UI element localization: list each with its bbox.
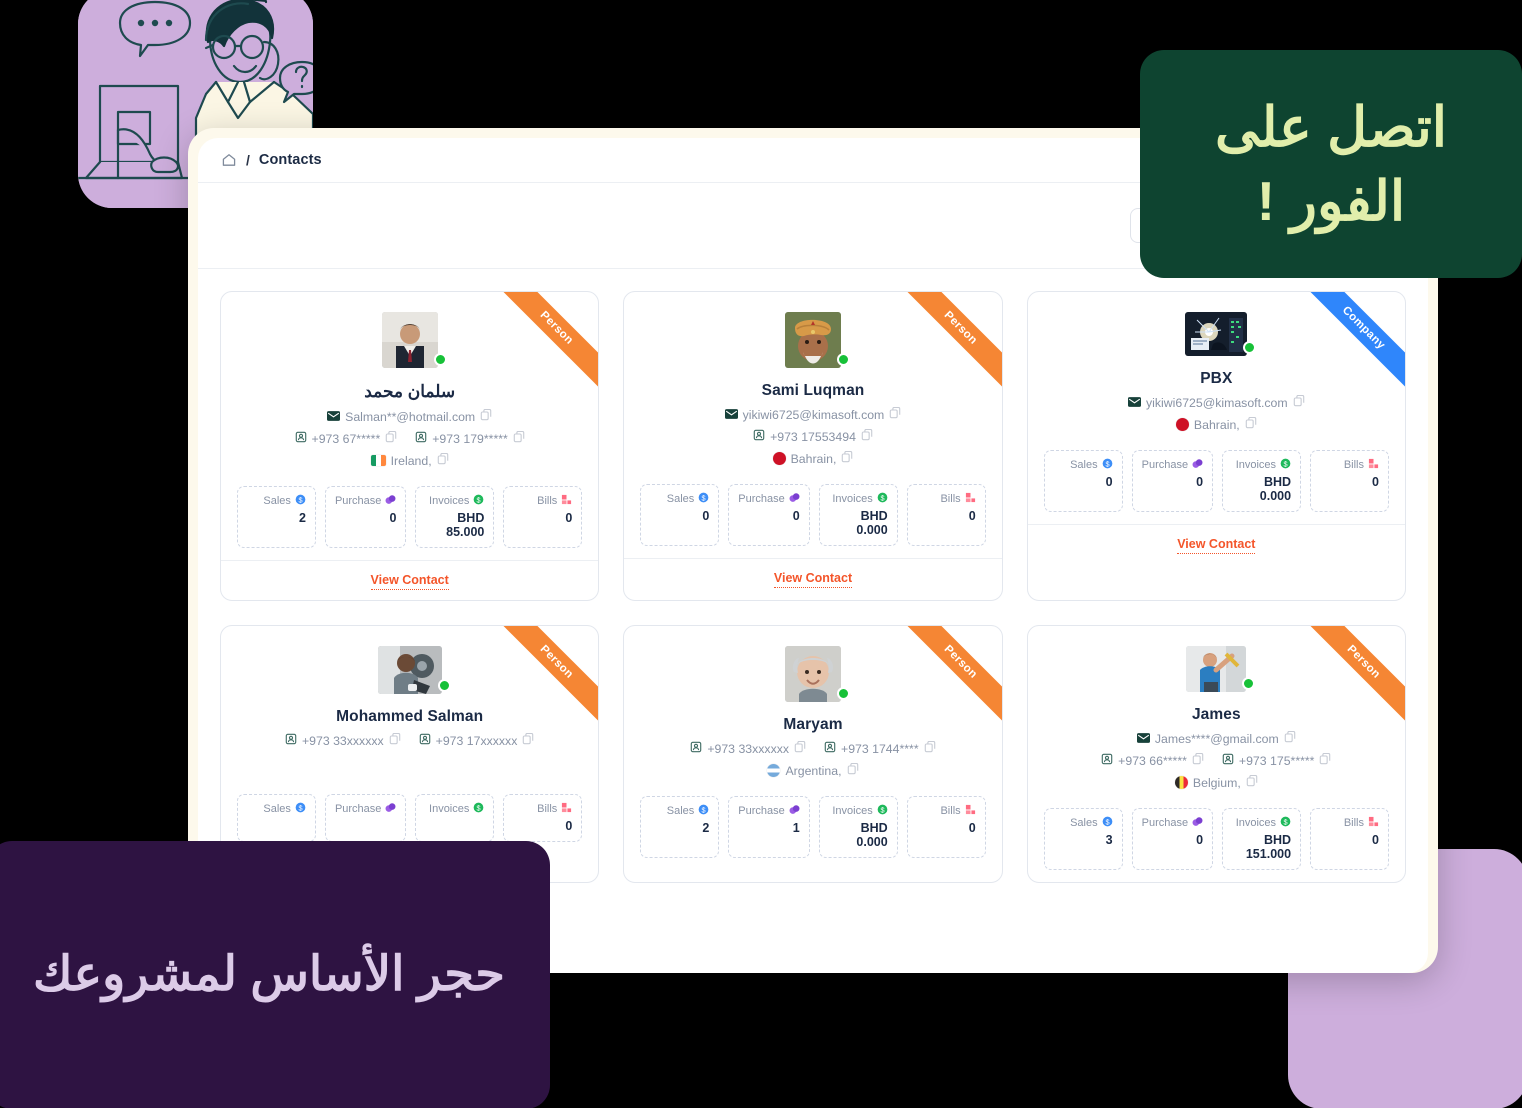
phone-pair[interactable]: +973 66***** — [1101, 753, 1204, 768]
stats-row: Sales $ 2 Purchase 0 — [237, 486, 582, 548]
sales-coin-icon: $ — [295, 802, 306, 816]
svg-text:$: $ — [1105, 459, 1109, 468]
status-dot-online — [1242, 677, 1255, 690]
stat-bills: Bills 0 — [1310, 808, 1389, 870]
phone-text: +973 179***** — [432, 432, 508, 446]
contact-name: Mohammed Salman — [237, 708, 582, 726]
stat-label: Bills — [940, 493, 960, 505]
copy-icon[interactable] — [437, 453, 449, 468]
bills-blocks-icon — [1368, 458, 1379, 472]
avatar-wrapper — [1186, 646, 1246, 692]
copy-icon[interactable] — [522, 733, 534, 748]
stat-label: Bills — [1344, 817, 1364, 829]
contact-card[interactable]: Person — [1027, 625, 1406, 883]
stat-sales: Sales $ 3 — [1044, 808, 1123, 870]
stat-label: Purchase — [335, 495, 381, 507]
country-text: Argentina, — [785, 764, 841, 778]
stat-value: 1 — [738, 821, 799, 835]
contact-email-row: yikiwi6725@kimasoft.com — [1044, 395, 1389, 410]
phone-pair[interactable]: +973 1744**** — [824, 741, 936, 756]
phone-text: +973 66***** — [1118, 754, 1187, 768]
card-footer: View Contact — [624, 558, 1001, 598]
sales-coin-icon: $ — [1102, 458, 1113, 472]
stat-label: Sales — [263, 803, 291, 815]
card-footer: View Contact — [1028, 524, 1405, 564]
copy-icon[interactable] — [1284, 731, 1296, 746]
purchase-coins-icon — [1192, 816, 1203, 830]
view-contact-link[interactable]: View Contact — [774, 571, 852, 588]
phone-text: +973 1744**** — [841, 742, 919, 756]
contact-card[interactable]: Person — [623, 625, 1002, 883]
country-pair[interactable]: Bahrain, — [1176, 417, 1257, 432]
stat-value: 0 — [738, 509, 799, 523]
stat-purchase: Purchase 0 — [1132, 450, 1213, 512]
view-contact-link[interactable]: View Contact — [371, 573, 449, 590]
stat-bills: Bills 0 — [1310, 450, 1389, 512]
stat-label: Bills — [940, 805, 960, 817]
country-text: Bahrain, — [1194, 418, 1240, 432]
email-pair[interactable]: yikiwi6725@kimasoft.com — [725, 407, 902, 422]
svg-text:$: $ — [298, 495, 302, 504]
card-body: James James****@gmail.com — [1028, 626, 1405, 882]
contact-card-icon — [415, 431, 427, 446]
stat-label: Sales — [263, 495, 291, 507]
stat-purchase: Purchase 1 — [728, 796, 809, 858]
stat-header: Invoices $ — [425, 494, 484, 508]
stat-header: Sales $ — [650, 492, 709, 506]
card-body: Mohammed Salman +973 33xxxxxx — [221, 626, 598, 854]
phone-text: +973 67***** — [312, 432, 381, 446]
stat-value: 0 — [917, 509, 976, 523]
stat-label: Sales — [1070, 817, 1098, 829]
svg-text:$: $ — [1105, 817, 1109, 826]
stat-label: Purchase — [738, 493, 784, 505]
stat-header: Invoices $ — [425, 802, 484, 816]
copy-icon[interactable] — [385, 431, 397, 446]
contact-card-icon — [285, 733, 297, 748]
stat-sales: Sales $ 0 — [1044, 450, 1123, 512]
copy-icon[interactable] — [513, 431, 525, 446]
stat-label: Invoices — [832, 805, 872, 817]
country-text: Ireland, — [391, 454, 432, 468]
copy-icon[interactable] — [389, 733, 401, 748]
email-text: yikiwi6725@kimasoft.com — [1146, 396, 1288, 410]
avatar — [785, 312, 841, 368]
stat-sales: Sales $ — [237, 794, 316, 842]
stat-value: 0 — [1142, 833, 1203, 847]
sales-coin-icon: $ — [698, 804, 709, 818]
stat-invoices: Invoices $ — [415, 794, 494, 842]
avatar-wrapper — [1185, 312, 1247, 356]
bills-blocks-icon — [561, 494, 572, 508]
svg-text:$: $ — [880, 493, 884, 502]
copy-icon[interactable] — [794, 741, 806, 756]
stat-header: Sales $ — [1054, 458, 1113, 472]
stat-header: Invoices $ — [1232, 458, 1291, 472]
svg-text:$: $ — [880, 805, 884, 814]
phone-text: +973 175***** — [1239, 754, 1315, 768]
copy-icon[interactable] — [480, 409, 492, 424]
contact-phone-row: +973 66***** +973 175***** — [1044, 753, 1389, 768]
copy-icon[interactable] — [924, 741, 936, 756]
contact-name: سلمان محمد — [237, 382, 582, 402]
stat-header: Purchase — [1142, 816, 1203, 830]
stat-label: Bills — [1344, 459, 1364, 471]
phone-pair[interactable]: +973 33xxxxxx — [690, 741, 806, 756]
purchase-coins-icon — [385, 494, 396, 508]
contact-name: Sami Luqman — [640, 382, 985, 400]
stat-header: Bills — [513, 494, 572, 508]
bills-blocks-icon — [965, 804, 976, 818]
stat-header: Bills — [917, 492, 976, 506]
stats-row: Sales $ 0 Purchase 0 — [640, 484, 985, 546]
stat-label: Invoices — [1236, 459, 1276, 471]
stat-header: Invoices $ — [829, 492, 888, 506]
stat-header: Sales $ — [247, 802, 306, 816]
card-body: PBX yikiwi6725@kimasoft.com — [1028, 292, 1405, 524]
invoices-coin-icon: $ — [473, 494, 484, 508]
contact-name: James — [1044, 706, 1389, 724]
contact-email-row: James****@gmail.com — [1044, 731, 1389, 746]
phone-pair[interactable]: +973 33xxxxxx — [285, 733, 401, 748]
contact-country-row: Bahrain, — [640, 451, 985, 466]
card-body: Maryam +973 33xxxxxx — [624, 626, 1001, 870]
card-footer: View Contact — [221, 560, 598, 600]
card-body: Sami Luqman yikiwi6725@kimasoft.com — [624, 292, 1001, 558]
contact-card-icon — [1101, 753, 1113, 768]
stat-value: 0 — [650, 509, 709, 523]
contact-card-icon — [753, 429, 765, 444]
contact-card[interactable]: Person — [220, 291, 599, 601]
phone-pair[interactable]: +973 17553494 — [753, 429, 873, 444]
status-dot-online — [438, 679, 451, 692]
copy-icon[interactable] — [1246, 775, 1258, 790]
contact-card-icon — [295, 431, 307, 446]
invoices-coin-icon: $ — [473, 802, 484, 816]
avatar — [785, 646, 841, 702]
stat-bills: Bills 0 — [907, 484, 986, 546]
country-pair[interactable]: Argentina, — [767, 763, 858, 778]
email-pair[interactable]: James****@gmail.com — [1137, 731, 1296, 746]
contact-name: PBX — [1044, 370, 1389, 388]
breadcrumb-current: Contacts — [259, 152, 322, 168]
stats-row: Sales $ Purchase — [237, 794, 582, 842]
stat-purchase: Purchase — [325, 794, 406, 842]
flag-icon-ireland — [371, 455, 386, 466]
stat-value: 0 — [513, 819, 572, 833]
contact-card-icon — [824, 741, 836, 756]
stat-header: Bills — [917, 804, 976, 818]
status-dot-online — [434, 353, 447, 366]
contact-phone-row: +973 67***** +973 179***** — [237, 431, 582, 446]
copy-icon[interactable] — [841, 451, 853, 466]
email-pair[interactable]: yikiwi6725@kimasoft.com — [1128, 395, 1305, 410]
stat-sales: Sales $ 0 — [640, 484, 719, 546]
view-contact-link[interactable]: View Contact — [1177, 537, 1255, 554]
invoices-coin-icon: $ — [877, 804, 888, 818]
avatar — [1186, 646, 1246, 692]
invoices-coin-icon: $ — [1280, 458, 1291, 472]
phone-pair[interactable]: +973 17xxxxxx — [419, 733, 535, 748]
country-pair[interactable]: Bahrain, — [773, 451, 854, 466]
phone-pair[interactable]: +973 67***** — [295, 431, 398, 446]
contact-email-row: Salman**@hotmail.com — [237, 409, 582, 424]
stat-header: Sales $ — [247, 494, 306, 508]
stat-value: 0 — [513, 511, 572, 525]
stat-value: BHD 151.000 — [1232, 833, 1291, 861]
mail-icon — [1137, 732, 1150, 746]
phone-pair[interactable]: +973 175***** — [1222, 753, 1332, 768]
contact-card-icon — [690, 741, 702, 756]
email-text: yikiwi6725@kimasoft.com — [743, 408, 885, 422]
stat-header: Bills — [1320, 458, 1379, 472]
contact-card[interactable]: Company — [1027, 291, 1406, 601]
stat-label: Purchase — [335, 803, 381, 815]
status-dot-online — [1243, 341, 1256, 354]
stat-value: 0 — [1320, 833, 1379, 847]
purchase-coins-icon — [1192, 458, 1203, 472]
stat-bills: Bills 0 — [503, 486, 582, 548]
sales-coin-icon: $ — [1102, 816, 1113, 830]
avatar — [378, 646, 442, 694]
stat-header: Bills — [1320, 816, 1379, 830]
svg-text:$: $ — [477, 803, 481, 812]
contact-country-row: Ireland, — [237, 453, 582, 468]
stat-header: Purchase — [738, 492, 799, 506]
svg-text:$: $ — [702, 805, 706, 814]
stats-row: Sales $ 0 Purchase 0 — [1044, 450, 1389, 512]
stat-bills: Bills 0 — [503, 794, 582, 842]
stat-purchase: Purchase 0 — [728, 484, 809, 546]
card-body: سلمان محمد Salman**@hotmail.com — [221, 292, 598, 560]
stat-value: BHD 0.000 — [829, 509, 888, 537]
stat-value: 3 — [1054, 833, 1113, 847]
avatar-wrapper — [382, 312, 438, 368]
stat-label: Invoices — [1236, 817, 1276, 829]
promo-badge-green: اتصل على الفور ! — [1140, 50, 1522, 278]
stat-label: Purchase — [1142, 817, 1188, 829]
contact-card-icon — [419, 733, 431, 748]
stat-purchase: Purchase 0 — [325, 486, 406, 548]
contact-phone-row: +973 33xxxxxx +973 17xxxxxx — [237, 733, 582, 748]
stat-header: Invoices $ — [1232, 816, 1291, 830]
phone-text: +973 17553494 — [770, 430, 856, 444]
avatar-wrapper — [785, 312, 841, 368]
country-pair[interactable]: Ireland, — [371, 453, 449, 468]
invoices-coin-icon: $ — [1280, 816, 1291, 830]
stats-row: Sales $ 2 Purchase 1 — [640, 796, 985, 858]
phone-text: +973 17xxxxxx — [436, 734, 518, 748]
bills-blocks-icon — [561, 802, 572, 816]
svg-text:$: $ — [702, 493, 706, 502]
stat-invoices: Invoices $ BHD 0.000 — [1222, 450, 1301, 512]
copy-icon[interactable] — [889, 407, 901, 422]
email-text: James****@gmail.com — [1155, 732, 1279, 746]
stat-bills: Bills 0 — [907, 796, 986, 858]
email-text: Salman**@hotmail.com — [345, 410, 475, 424]
home-icon[interactable] — [221, 152, 237, 168]
avatar — [1185, 312, 1247, 356]
contact-country-row: Belgium, — [1044, 775, 1389, 790]
avatar — [382, 312, 438, 368]
promo-badge-purple: حجر الأساس لمشروعك — [0, 841, 550, 1108]
flag-icon-bahrain — [773, 452, 786, 465]
stat-header: Bills — [513, 802, 572, 816]
stat-label: Invoices — [429, 803, 469, 815]
copy-icon[interactable] — [1293, 395, 1305, 410]
copy-icon[interactable] — [1245, 417, 1257, 432]
flag-icon-belgium — [1175, 776, 1188, 789]
screenshot-stage: / Contacts Per — [0, 0, 1522, 1108]
purchase-coins-icon — [789, 492, 800, 506]
breadcrumb-separator: / — [246, 152, 250, 168]
stat-label: Bills — [537, 803, 557, 815]
stat-value: 2 — [650, 821, 709, 835]
stat-value: 0 — [917, 821, 976, 835]
status-dot-online — [837, 687, 850, 700]
stat-value: 0 — [1320, 475, 1379, 489]
stat-header: Purchase — [1142, 458, 1203, 472]
svg-text:$: $ — [1284, 459, 1288, 468]
purchase-coins-icon — [789, 804, 800, 818]
stat-label: Sales — [1070, 459, 1098, 471]
contact-name: Maryam — [640, 716, 985, 734]
stat-invoices: Invoices $ BHD 0.000 — [819, 796, 898, 858]
stat-value: BHD 0.000 — [1232, 475, 1291, 503]
country-pair[interactable]: Belgium, — [1175, 775, 1258, 790]
stat-value: 0 — [335, 511, 396, 525]
stat-value: 0 — [1142, 475, 1203, 489]
bills-blocks-icon — [1368, 816, 1379, 830]
flag-icon-bahrain — [1176, 418, 1189, 431]
avatar-wrapper — [378, 646, 442, 694]
invoices-coin-icon: $ — [877, 492, 888, 506]
stat-sales: Sales $ 2 — [640, 796, 719, 858]
avatar-wrapper — [785, 646, 841, 702]
contact-country-row: Argentina, — [640, 763, 985, 778]
sales-coin-icon: $ — [295, 494, 306, 508]
copy-icon[interactable] — [1319, 753, 1331, 768]
sales-coin-icon: $ — [698, 492, 709, 506]
mail-icon — [327, 410, 340, 424]
stat-sales: Sales $ 2 — [237, 486, 316, 548]
contacts-grid: Person — [198, 269, 1428, 883]
mail-icon — [1128, 396, 1141, 410]
stat-label: Invoices — [429, 495, 469, 507]
stat-header: Purchase — [335, 802, 396, 816]
stat-invoices: Invoices $ BHD 0.000 — [819, 484, 898, 546]
phone-text: +973 33xxxxxx — [707, 742, 789, 756]
stat-label: Sales — [667, 805, 695, 817]
stat-value: 2 — [247, 511, 306, 525]
copy-icon[interactable] — [847, 763, 859, 778]
contact-email-row: yikiwi6725@kimasoft.com — [640, 407, 985, 422]
stat-header: Invoices $ — [829, 804, 888, 818]
contact-country-row: Bahrain, — [1044, 417, 1389, 432]
stat-value: BHD 0.000 — [829, 821, 888, 849]
stat-value: 0 — [1054, 475, 1113, 489]
stat-header: Sales $ — [650, 804, 709, 818]
mail-icon — [725, 408, 738, 422]
contact-phone-row: +973 17553494 — [640, 429, 985, 444]
svg-text:$: $ — [298, 803, 302, 812]
stat-purchase: Purchase 0 — [1132, 808, 1213, 870]
country-text: Bahrain, — [791, 452, 837, 466]
svg-text:$: $ — [477, 495, 481, 504]
country-text: Belgium, — [1193, 776, 1241, 790]
stat-label: Purchase — [738, 805, 784, 817]
phone-pair[interactable]: +973 179***** — [415, 431, 525, 446]
contact-phone-row: +973 33xxxxxx +973 1744**** — [640, 741, 985, 756]
stats-row: Sales $ 3 Purchase 0 — [1044, 808, 1389, 870]
copy-icon[interactable] — [1192, 753, 1204, 768]
stat-invoices: Invoices $ BHD 85.000 — [415, 486, 494, 548]
stat-label: Bills — [537, 495, 557, 507]
flag-icon-argentina — [767, 764, 780, 777]
stat-label: Sales — [667, 493, 695, 505]
contact-card[interactable]: Person — [623, 291, 1002, 601]
stat-value: BHD 85.000 — [425, 511, 484, 539]
email-pair[interactable]: Salman**@hotmail.com — [327, 409, 492, 424]
status-dot-online — [837, 353, 850, 366]
contact-card-icon — [1222, 753, 1234, 768]
svg-text:$: $ — [1284, 817, 1288, 826]
copy-icon[interactable] — [861, 429, 873, 444]
stat-label: Purchase — [1142, 459, 1188, 471]
stat-header: Purchase — [335, 494, 396, 508]
purchase-coins-icon — [385, 802, 396, 816]
stat-header: Purchase — [738, 804, 799, 818]
stat-header: Sales $ — [1054, 816, 1113, 830]
stat-invoices: Invoices $ BHD 151.000 — [1222, 808, 1301, 870]
phone-text: +973 33xxxxxx — [302, 734, 384, 748]
bills-blocks-icon — [965, 492, 976, 506]
stat-label: Invoices — [832, 493, 872, 505]
